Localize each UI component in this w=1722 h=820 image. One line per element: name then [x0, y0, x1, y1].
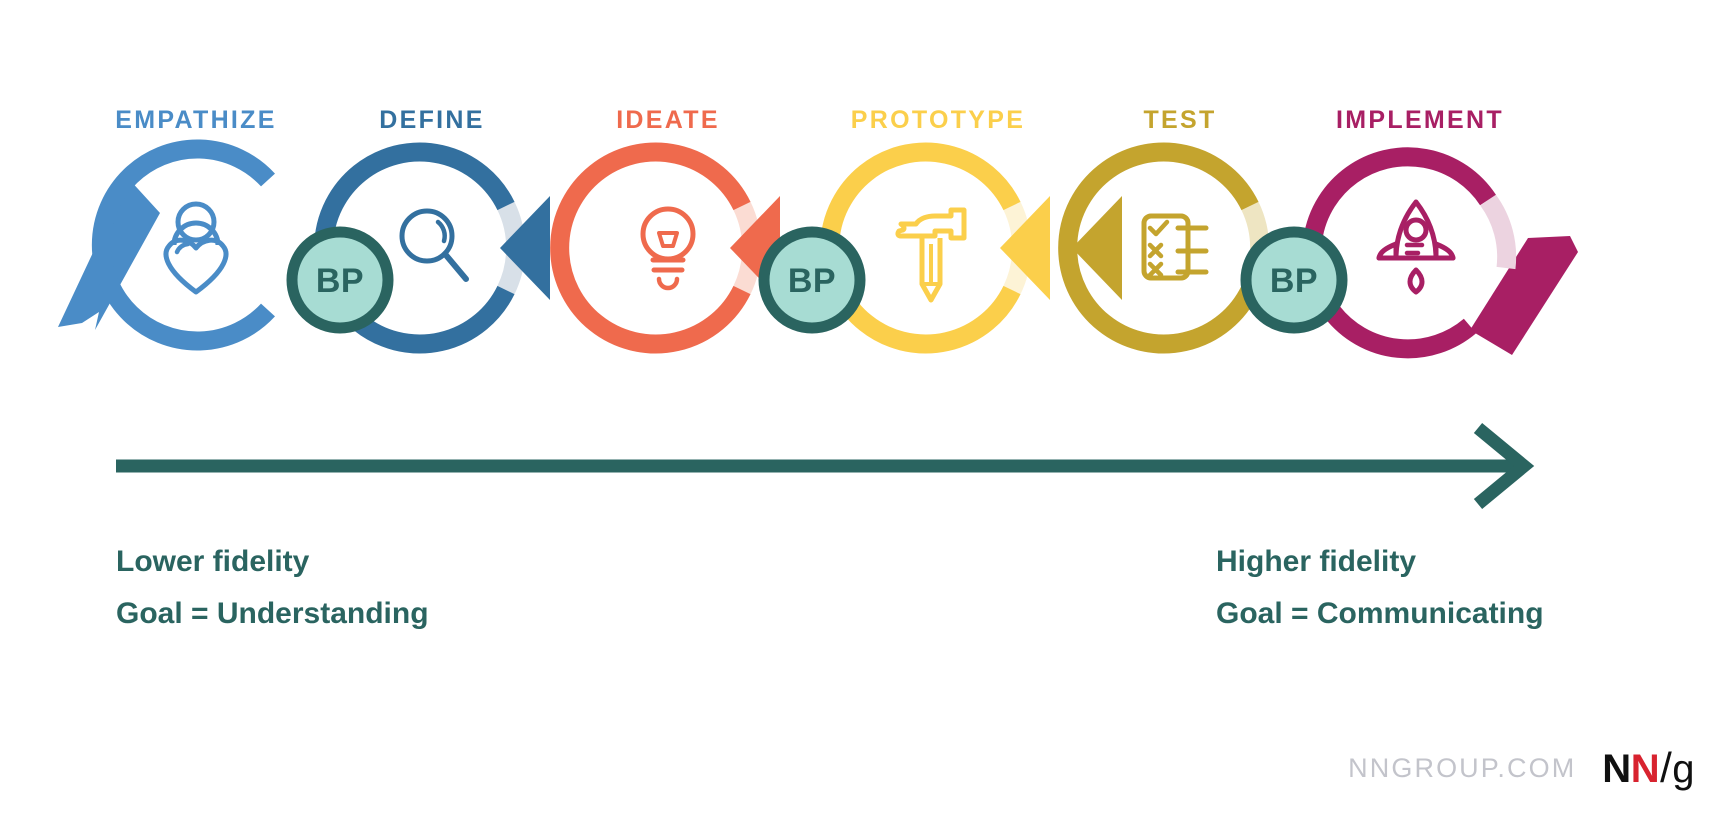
phase-label-implement: IMPLEMENT [1336, 106, 1504, 134]
diagram-canvas: EMPATHIZE DEFINE IDEATE [0, 0, 1722, 820]
hammer-pencil-icon [898, 210, 964, 300]
lower-fidelity-line1: Lower fidelity [116, 536, 429, 588]
nng-logo-n1: N [1602, 747, 1630, 792]
nng-logo-n2: N [1631, 747, 1659, 792]
bp-badge-2[interactable]: BP [764, 232, 860, 328]
phase-label-ideate: IDEATE [616, 106, 720, 134]
bp-badge-label: BP [1270, 262, 1318, 300]
phase-label-empathize: EMPATHIZE [115, 106, 276, 134]
checklist-icon [1144, 216, 1206, 278]
bp-badge-label: BP [316, 262, 364, 300]
magnifying-glass-icon [402, 211, 466, 279]
higher-fidelity-line2: Goal = Communicating [1216, 588, 1544, 640]
ideate-ring [560, 152, 742, 344]
phase-label-test: TEST [1143, 106, 1216, 134]
phase-ideate[interactable]: IDEATE [560, 106, 780, 344]
bp-badge-1[interactable]: BP [292, 232, 388, 328]
design-thinking-svg: EMPATHIZE DEFINE IDEATE [0, 0, 1722, 820]
nng-logo-g: g [1672, 747, 1694, 792]
rocket-icon [1379, 202, 1453, 292]
nng-logo: NN/g [1602, 744, 1694, 792]
nng-logo-slash: / [1659, 744, 1672, 792]
phase-label-define: DEFINE [379, 106, 484, 134]
phase-label-prototype: PROTOTYPE [851, 106, 1025, 134]
bp-badge-label: BP [788, 262, 836, 300]
phase-test[interactable]: TEST [1068, 106, 1260, 344]
fidelity-caption-right: Higher fidelity Goal = Communicating [1216, 536, 1544, 640]
bp-badge-3[interactable]: BP [1246, 232, 1342, 328]
footer-url: NNGROUP.COM [1348, 753, 1576, 784]
higher-fidelity-line1: Higher fidelity [1216, 536, 1544, 588]
footer: NNGROUP.COM NN/g [1348, 744, 1694, 792]
lower-fidelity-line2: Goal = Understanding [116, 588, 429, 640]
phase-prototype[interactable]: PROTOTYPE [830, 106, 1050, 344]
implement-gap-segment [1488, 200, 1507, 268]
phase-empathize[interactable]: EMPATHIZE [58, 106, 277, 341]
fidelity-caption-left: Lower fidelity Goal = Understanding [116, 536, 429, 640]
person-heart-icon [166, 204, 226, 292]
phase-implement[interactable]: IMPLEMENT [1312, 106, 1578, 355]
fidelity-arrow [116, 428, 1524, 504]
lightbulb-icon [643, 209, 693, 288]
implement-tail [1470, 236, 1578, 355]
